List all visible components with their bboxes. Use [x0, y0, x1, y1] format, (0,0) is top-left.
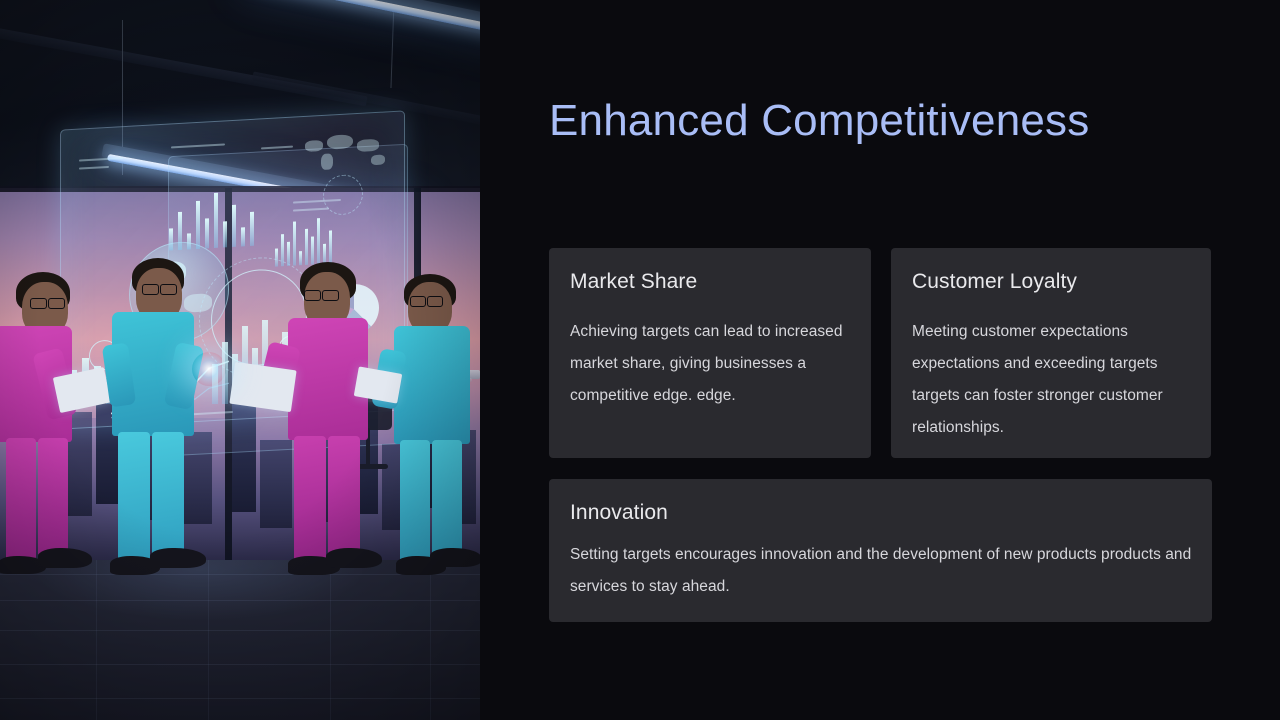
card-heading: Innovation	[570, 501, 668, 525]
floor-light-reflection	[0, 560, 480, 720]
slide-photo	[0, 0, 480, 720]
holo-world-map	[301, 126, 397, 177]
card-heading: Customer Loyalty	[912, 270, 1077, 294]
card-innovation[interactable]: Innovation Setting targets encourages in…	[549, 479, 1212, 622]
card-body-text: Achieving targets can lead to increased …	[570, 316, 853, 412]
holo-bar-chart	[169, 186, 259, 251]
holo-ring-small	[323, 174, 363, 216]
slide-content: Enhanced Competitiveness Market Share Ac…	[480, 0, 1280, 720]
card-body-text: Setting targets encourages innovation an…	[570, 539, 1192, 603]
holographic-light-flare	[192, 352, 226, 386]
card-heading: Market Share	[570, 270, 697, 294]
holo-bar-chart	[275, 211, 339, 267]
card-customer-loyalty[interactable]: Customer Loyalty Meeting customer expect…	[891, 248, 1211, 458]
card-body-text: Meeting customer expectations expectatio…	[912, 316, 1193, 444]
slide-title: Enhanced Competitiveness	[549, 96, 1089, 146]
presentation-slide: Enhanced Competitiveness Market Share Ac…	[0, 0, 1280, 720]
card-market-share[interactable]: Market Share Achieving targets can lead …	[549, 248, 871, 458]
